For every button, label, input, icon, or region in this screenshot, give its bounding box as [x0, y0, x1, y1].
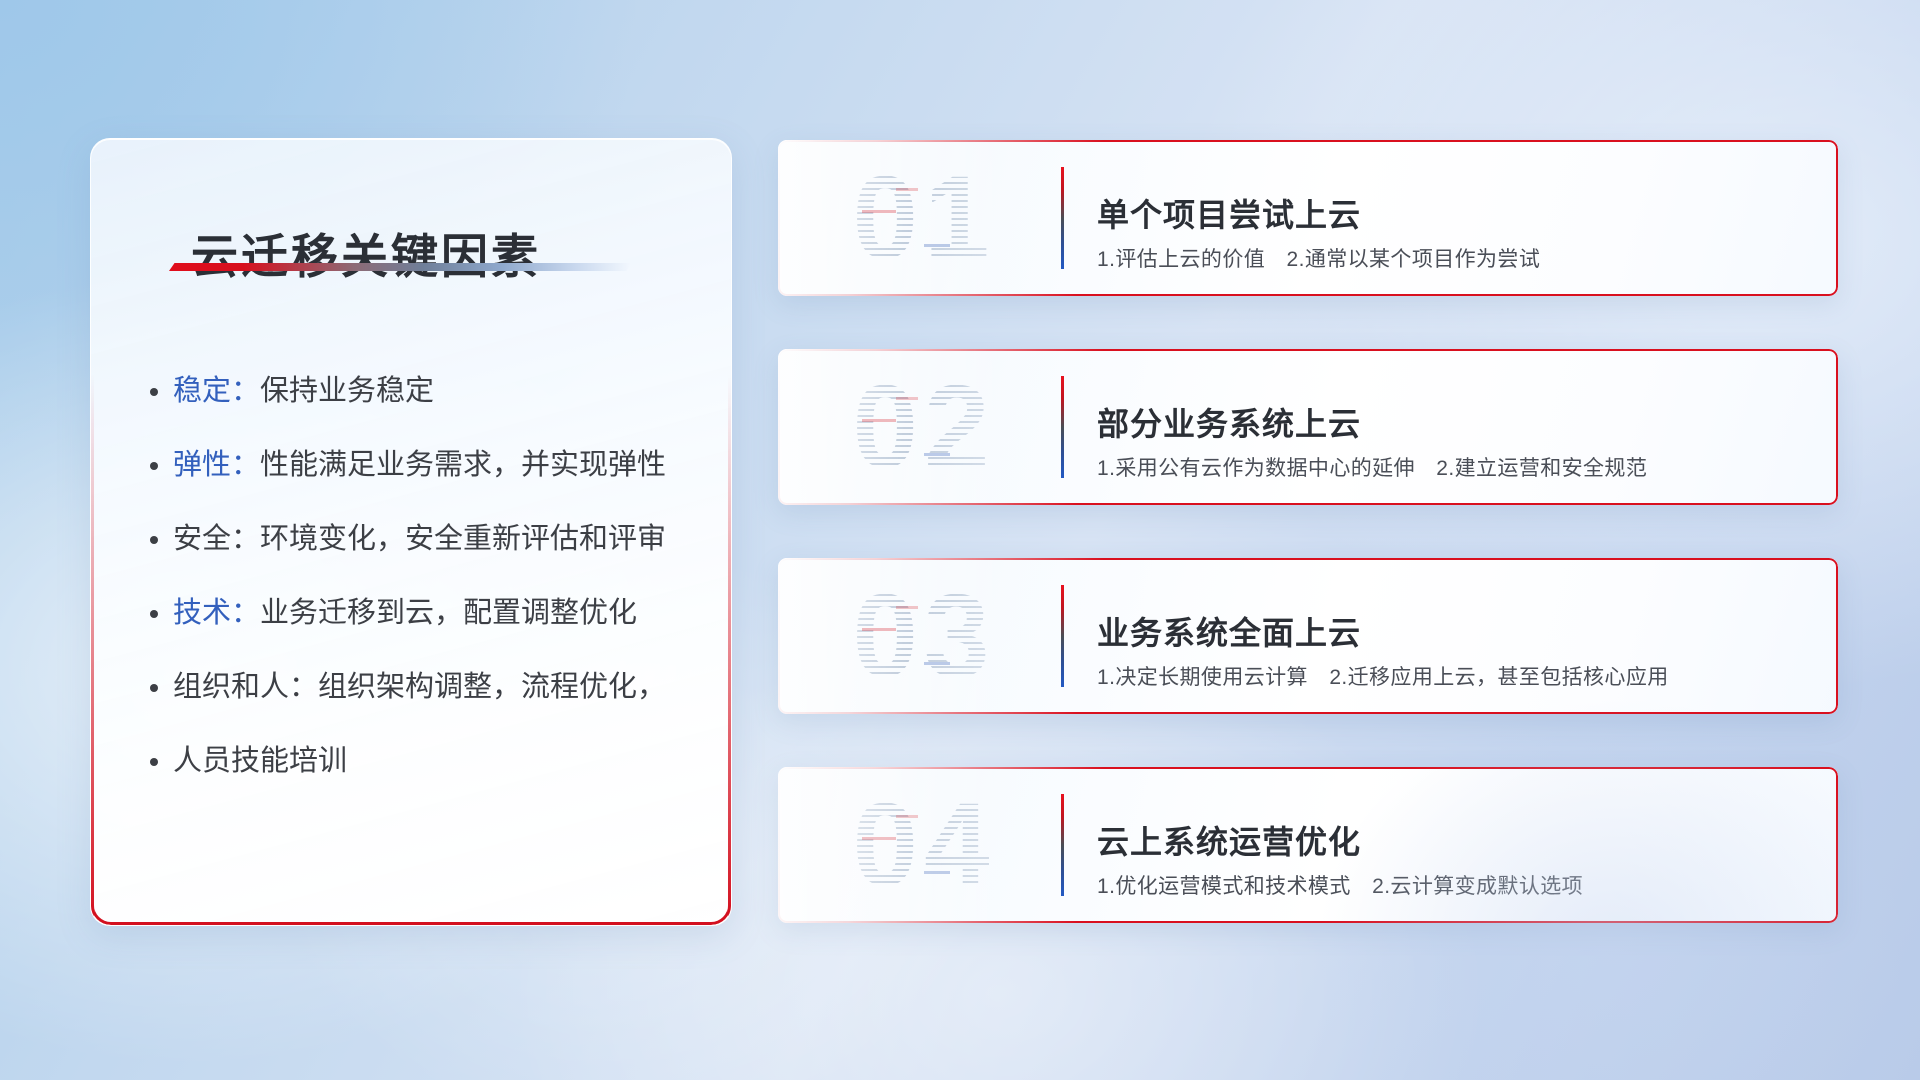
key-factor-label: 弹性：: [173, 449, 260, 481]
page-title: 云迁移关键因素: [191, 218, 541, 287]
stage-card[interactable]: 01单个项目尝试上云1.评估上云的价值 2.通常以某个项目作为尝试: [778, 140, 1838, 296]
key-factor-text: 组织架构调整，流程优化，: [318, 671, 666, 703]
key-factor-text: 人员技能培训: [173, 745, 347, 777]
key-factor-label: 安全：: [173, 523, 260, 555]
key-factors-list: 稳定：保持业务稳定弹性：性能满足业务需求，并实现弹性安全：环境变化，安全重新评估…: [133, 377, 701, 821]
key-factor-item: 技术：业务迁移到云，配置调整优化: [173, 599, 701, 628]
stage-divider-line: [1061, 376, 1064, 478]
key-factor-item: 弹性：性能满足业务需求，并实现弹性: [173, 451, 701, 480]
stage-title: 业务系统全面上云: [1097, 608, 1361, 654]
title-underline-gradient: [169, 263, 631, 271]
key-factor-text: 性能满足业务需求，并实现弹性: [260, 449, 666, 481]
stage-detail: 1.决定长期使用云计算 2.迁移应用上云，甚至包括核心应用: [1097, 661, 1669, 691]
key-factor-label: 组织和人：: [173, 671, 318, 703]
stage-number: 04: [804, 779, 1044, 911]
stage-number: 02: [804, 361, 1044, 493]
cloud-migration-stages: 01单个项目尝试上云1.评估上云的价值 2.通常以某个项目作为尝试02部分业务系…: [778, 140, 1838, 976]
stage-card[interactable]: 04云上系统运营优化1.优化运营模式和技术模式 2.云计算变成默认选项: [778, 767, 1838, 923]
stage-detail: 1.采用公有云作为数据中心的延伸 2.建立运营和安全规范: [1097, 452, 1647, 482]
stage-detail: 1.优化运营模式和技术模式 2.云计算变成默认选项: [1097, 870, 1583, 900]
stage-number: 01: [804, 152, 1044, 284]
key-factor-text: 保持业务稳定: [260, 375, 434, 407]
stage-divider-line: [1061, 794, 1064, 896]
card-right-accent-border: [728, 285, 731, 925]
stage-number: 03: [804, 570, 1044, 702]
stage-title: 单个项目尝试上云: [1097, 190, 1361, 236]
key-factor-label: 技术：: [173, 597, 260, 629]
key-factor-item: 人员技能培训: [173, 747, 701, 776]
key-factor-item: 安全：环境变化，安全重新评估和评审: [173, 525, 701, 554]
key-factor-item: 稳定：保持业务稳定: [173, 377, 701, 406]
key-factor-item: 组织和人：组织架构调整，流程优化，: [173, 673, 701, 702]
stage-card[interactable]: 03业务系统全面上云1.决定长期使用云计算 2.迁移应用上云，甚至包括核心应用: [778, 558, 1838, 714]
key-factor-text: 业务迁移到云，配置调整优化: [260, 597, 637, 629]
stage-title: 云上系统运营优化: [1097, 817, 1361, 863]
stage-title: 部分业务系统上云: [1097, 399, 1361, 445]
stage-divider-line: [1061, 167, 1064, 269]
stage-card[interactable]: 02部分业务系统上云1.采用公有云作为数据中心的延伸 2.建立运营和安全规范: [778, 349, 1838, 505]
card-bottom-accent-border: [91, 902, 731, 925]
slide-canvas: 云迁移关键因素 稳定：保持业务稳定弹性：性能满足业务需求，并实现弹性安全：环境变…: [0, 0, 1920, 1080]
stage-detail: 1.评估上云的价值 2.通常以某个项目作为尝试: [1097, 243, 1540, 273]
card-left-accent-border: [91, 285, 94, 925]
key-factor-text: 环境变化，安全重新评估和评审: [260, 523, 666, 555]
key-factor-label: 稳定：: [173, 375, 260, 407]
stage-divider-line: [1061, 585, 1064, 687]
key-factors-card: 云迁移关键因素 稳定：保持业务稳定弹性：性能满足业务需求，并实现弹性安全：环境变…: [90, 138, 732, 926]
